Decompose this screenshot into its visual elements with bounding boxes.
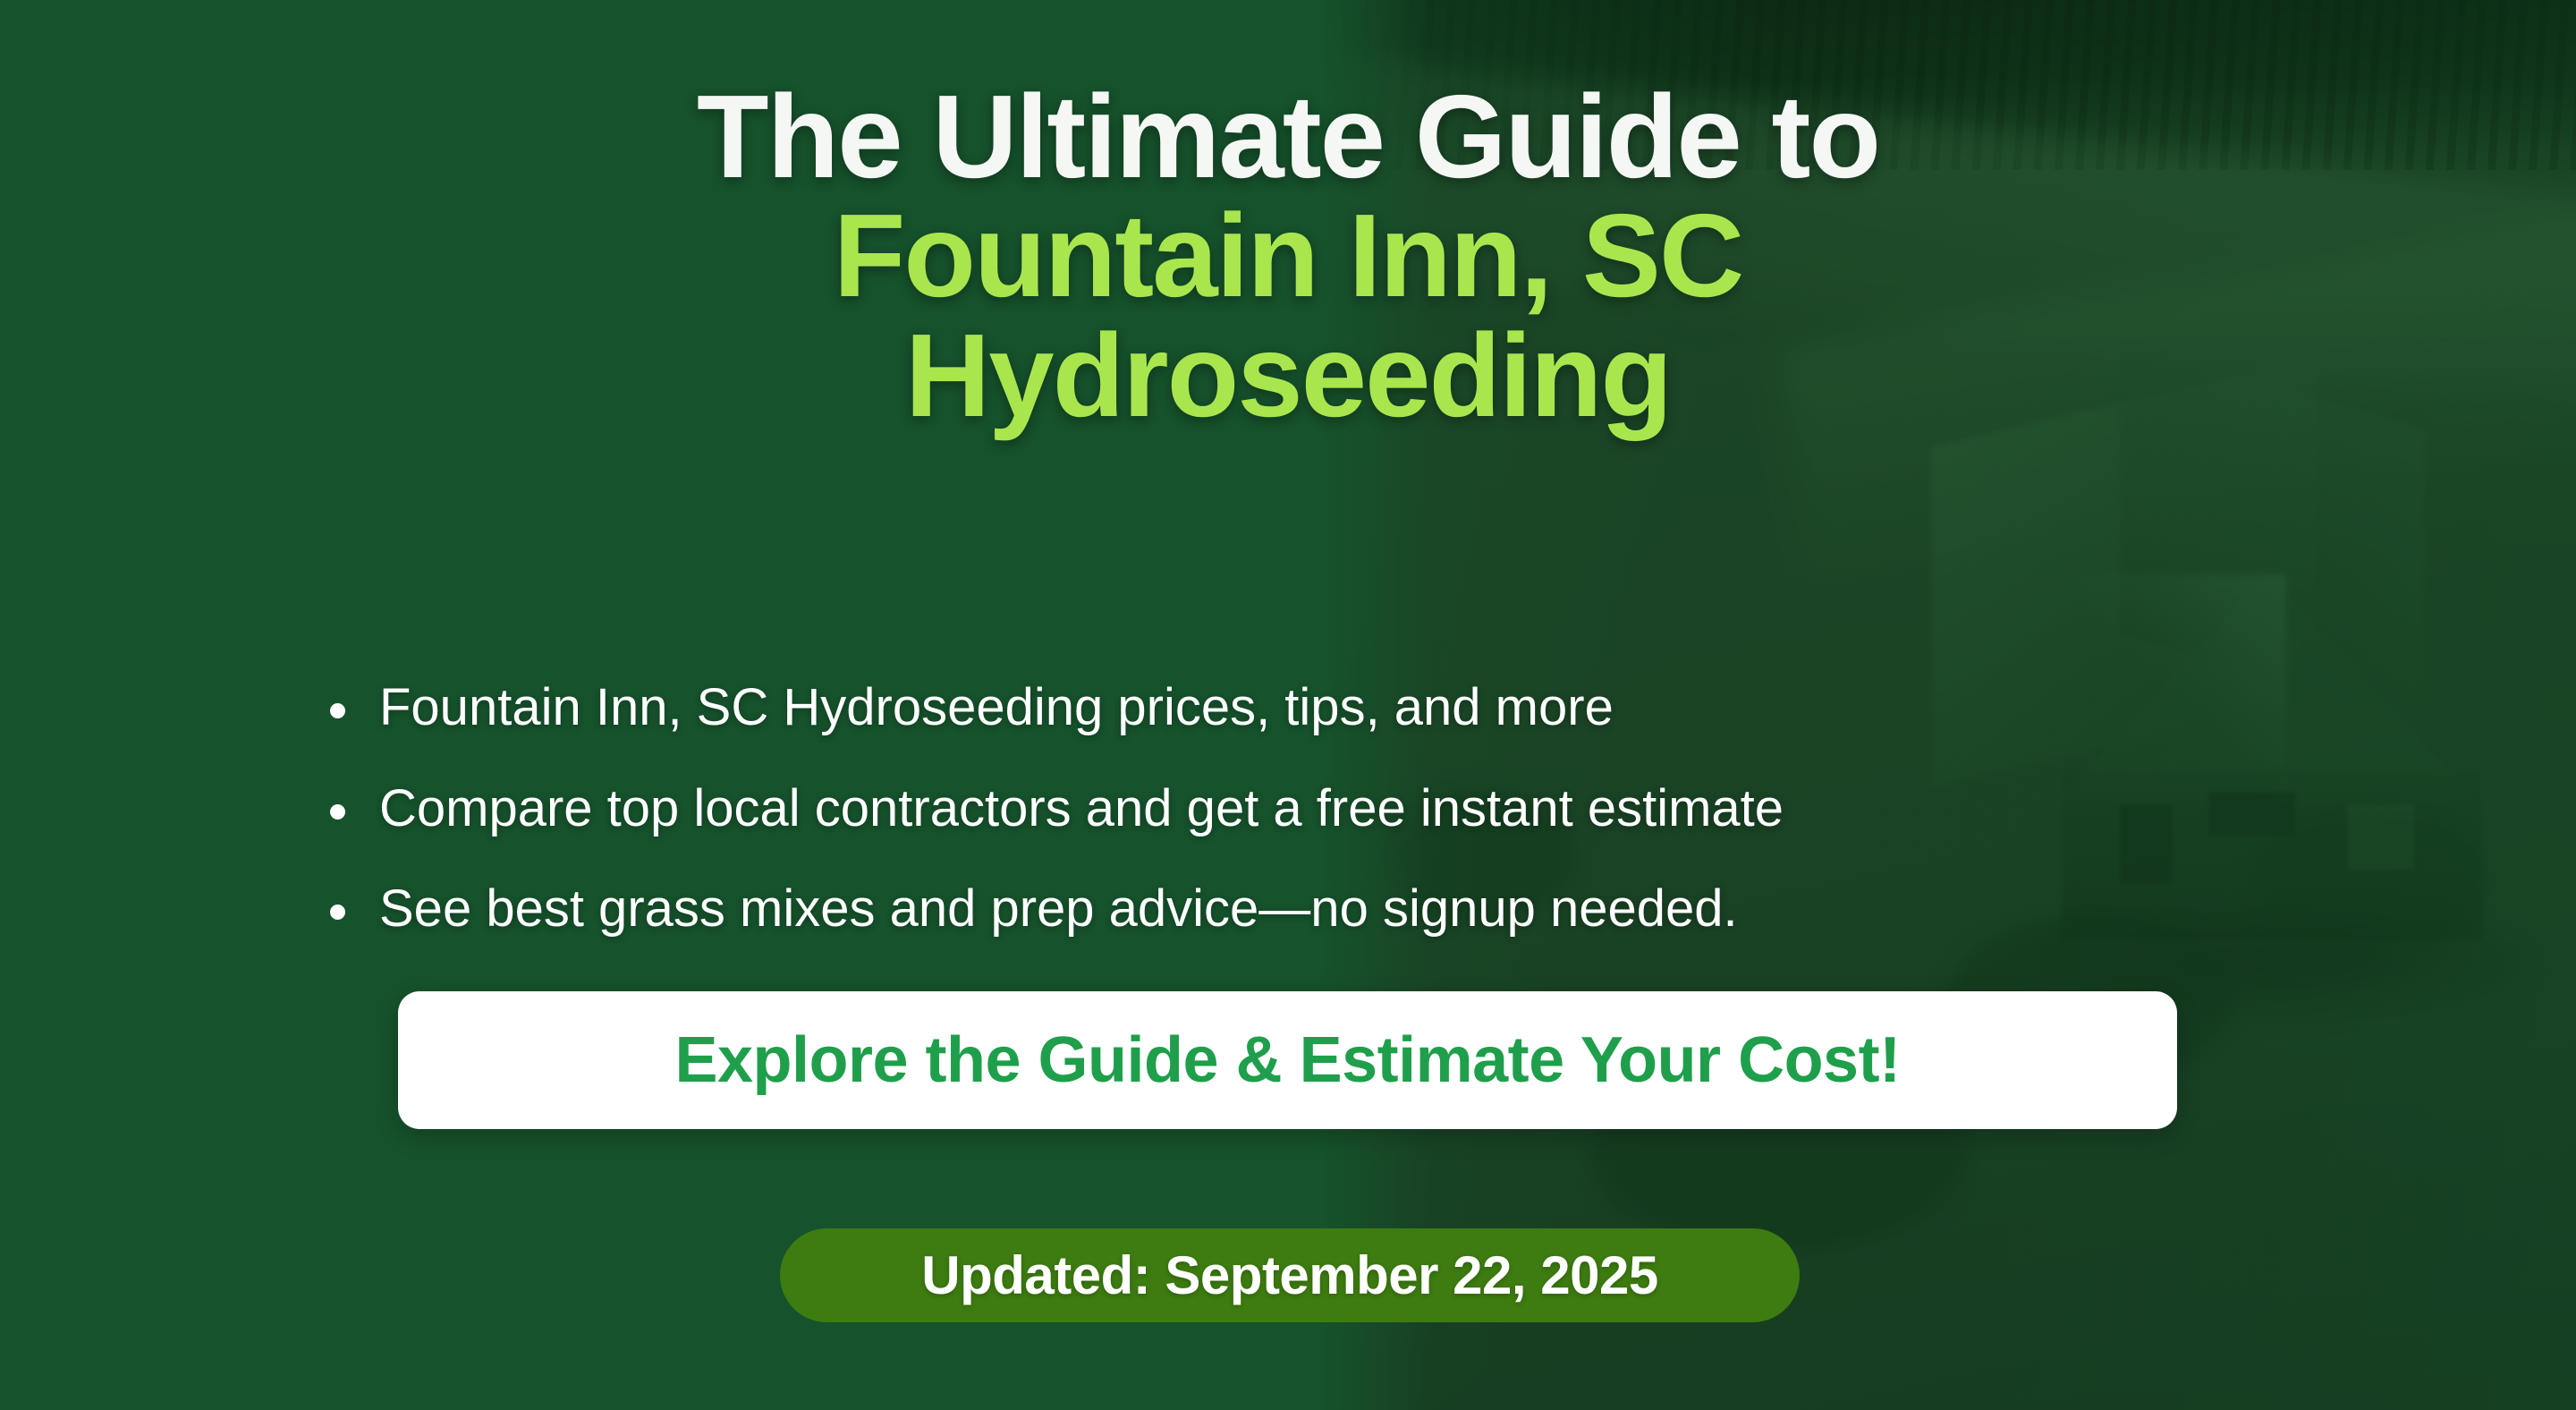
title-line-3: Hydroseeding [125, 316, 2451, 435]
hero-banner: The Ultimate Guide to Fountain Inn, SC H… [0, 0, 2576, 1410]
page-title: The Ultimate Guide to Fountain Inn, SC H… [0, 77, 2576, 435]
title-line-2: Fountain Inn, SC [125, 196, 2451, 315]
list-item-label: See best grass mixes and prep advice—no … [379, 879, 1738, 938]
list-item: See best grass mixes and prep advice—no … [330, 881, 2387, 938]
explore-guide-button[interactable]: Explore the Guide & Estimate Your Cost! [398, 991, 2177, 1129]
bullet-dot-icon [330, 703, 345, 718]
updated-badge: Updated: September 22, 2025 [780, 1228, 1800, 1322]
title-line-1: The Ultimate Guide to [125, 77, 2451, 196]
bullet-dot-icon [330, 804, 345, 820]
list-item-label: Compare top local contractors and get a … [379, 779, 1784, 837]
bullet-dot-icon [330, 905, 345, 920]
list-item: Compare top local contractors and get a … [330, 781, 2387, 837]
benefits-list: Fountain Inn, SC Hydroseeding prices, ti… [330, 680, 2387, 938]
hero-content: The Ultimate Guide to Fountain Inn, SC H… [0, 0, 2576, 1410]
list-item: Fountain Inn, SC Hydroseeding prices, ti… [330, 680, 2387, 736]
list-item-label: Fountain Inn, SC Hydroseeding prices, ti… [379, 678, 1614, 736]
